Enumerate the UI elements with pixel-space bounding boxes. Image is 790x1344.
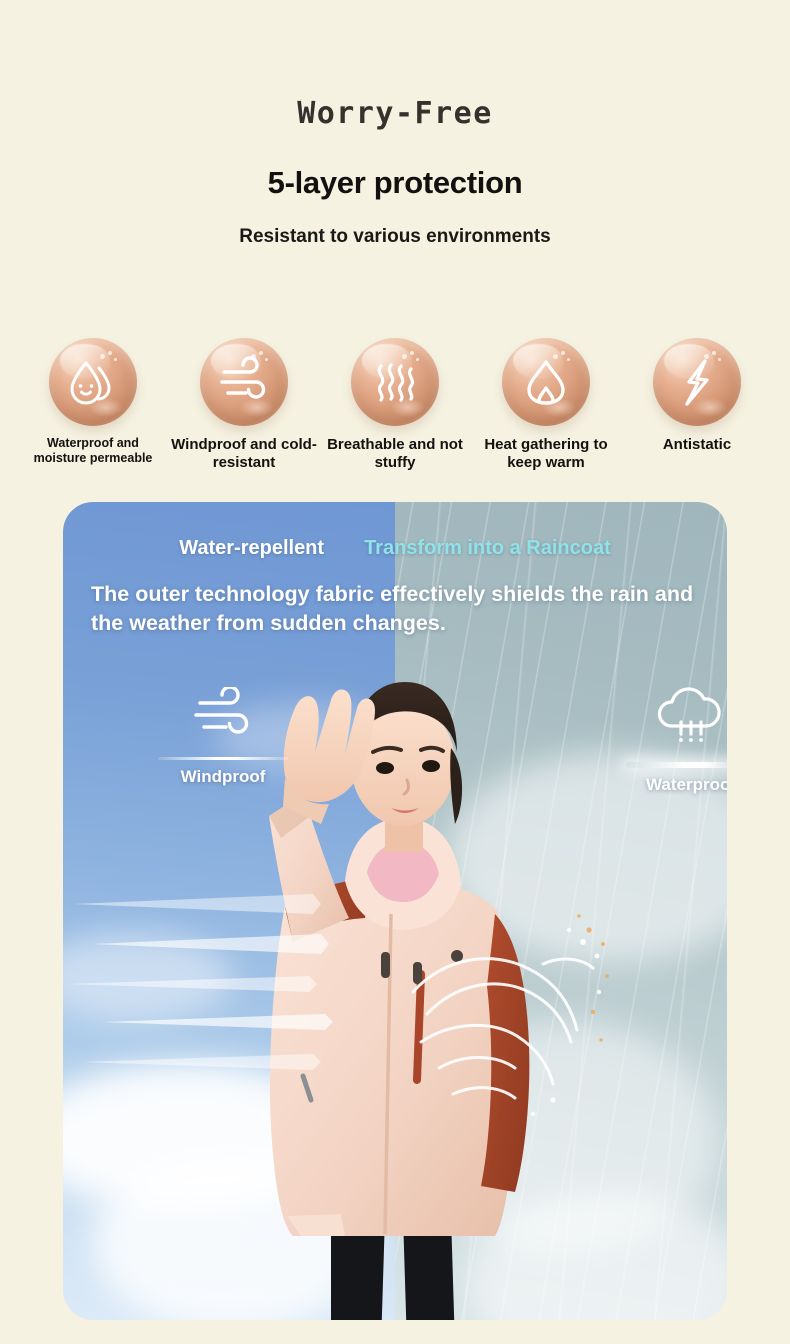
lightning-bolt-icon (653, 338, 741, 426)
feature-label: Heat gathering to keep warm (473, 436, 619, 473)
feature-label: Breathable and not stuffy (322, 436, 468, 473)
rain-cloud-icon (643, 682, 727, 754)
mark-underline (626, 762, 727, 768)
mark-label: Waterproof (601, 775, 727, 795)
hero-copy: Water-repellent Transform into a Raincoa… (63, 502, 727, 637)
hero-tag-left: Water-repellent (179, 537, 324, 560)
orb-background (200, 338, 288, 426)
orb-background (351, 338, 439, 426)
orb-background (502, 338, 590, 426)
feature-item-heat[interactable]: Heat gathering to keep warm (473, 338, 619, 473)
water-splash-graphic (393, 872, 623, 1132)
feature-item-antistatic[interactable]: Antistatic (624, 338, 770, 473)
product-feature-page: Worry-Free 5-layer protection Resistant … (0, 0, 790, 1344)
flame-icon (502, 338, 590, 426)
hero-tag-right: Transform into a Raincoat (364, 537, 611, 560)
hero-mark-waterproof: Waterproof (601, 682, 727, 795)
wind-icon (178, 687, 268, 749)
feature-item-breathable[interactable]: Breathable and not stuffy (322, 338, 468, 473)
feature-item-windproof[interactable]: Windproof and cold-resistant (171, 338, 317, 473)
heat-waves-icon (351, 338, 439, 426)
mark-label: Windproof (133, 767, 313, 787)
orb-background (49, 338, 137, 426)
hero-description: The outer technology fabric effectively … (63, 580, 727, 637)
water-drop-smile-icon (49, 338, 137, 426)
feature-item-waterproof[interactable]: Waterproof and moisture permeable (20, 338, 166, 473)
page-subtitle: Resistant to various environments (0, 225, 790, 249)
wind-icon (200, 338, 288, 426)
hero-mark-windproof: Windproof (133, 687, 313, 787)
feature-label: Windproof and cold-resistant (171, 436, 317, 473)
hero-tag-row: Water-repellent Transform into a Raincoa… (63, 537, 727, 560)
page-title: 5-layer protection (0, 165, 790, 201)
hero-panel: Water-repellent Transform into a Raincoa… (63, 502, 727, 1320)
feature-label: Antistatic (663, 436, 731, 454)
eyebrow-text: Worry-Free (0, 96, 790, 131)
wind-streak-graphic (63, 882, 363, 1112)
header-block: Worry-Free 5-layer protection Resistant … (0, 0, 790, 249)
feature-icon-row: Waterproof and moisture permeable Windpr… (0, 338, 790, 473)
feature-label: Waterproof and moisture permeable (20, 436, 166, 467)
orb-background (653, 338, 741, 426)
mark-underline (158, 757, 288, 760)
